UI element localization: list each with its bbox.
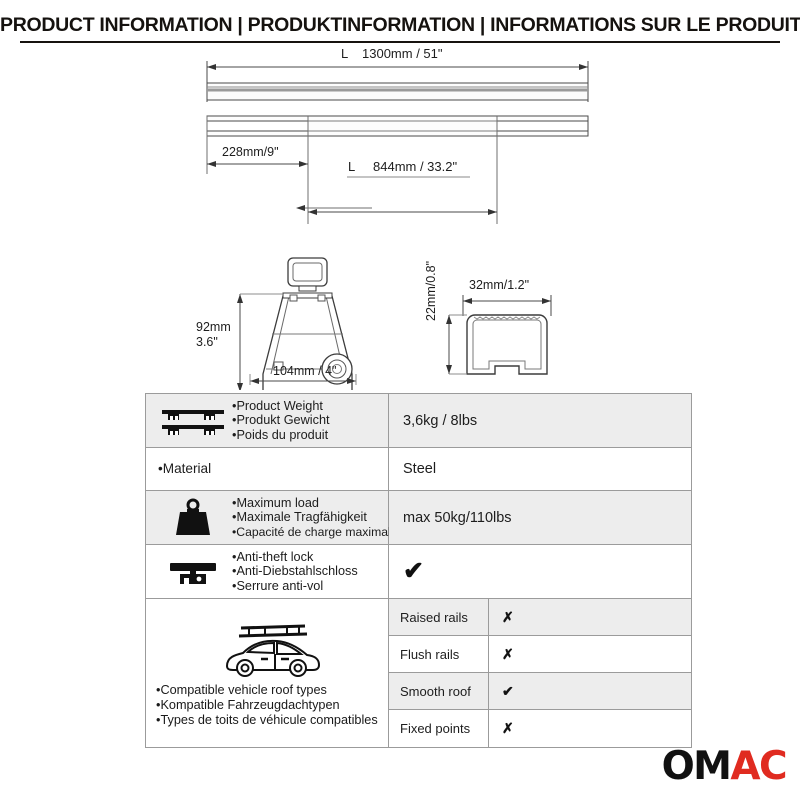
roof-option-label: Flush rails [389,636,489,672]
roof-bars-icon [154,404,232,438]
label-en: •Maximum load [232,496,398,511]
table-row-anti-theft-lock: •Anti-theft lock •Anti-Diebstahlschloss … [146,545,691,599]
roof-option-mark: ✗ [489,636,691,672]
profile-height-value: 22mm/0.8" [424,261,438,321]
table-row-product-weight: •Product Weight •Produkt Gewicht •Poids … [146,394,691,448]
foot-width-value: 104mm / 4" [273,364,337,378]
label-fr: •Serrure anti-vol [232,579,358,594]
roof-types-labels: •Compatible vehicle roof types •Kompatib… [156,683,378,728]
roof-options-subtable: Raised rails ✗ Flush rails ✗ Smooth roof… [389,599,691,747]
roof-option-row: Raised rails ✗ [389,599,691,636]
roof-option-label: Raised rails [389,599,489,635]
page-title: PRODUCT INFORMATION | PRODUKTINFORMATION… [0,14,800,37]
material-value: Steel [389,448,691,490]
anti-theft-label-cell: •Anti-theft lock •Anti-Diebstahlschloss … [146,545,389,598]
product-weight-label-cell: •Product Weight •Produkt Gewicht •Poids … [146,394,389,447]
product-information-sheet: PRODUCT INFORMATION | PRODUKTINFORMATION… [0,0,800,800]
specification-table: •Product Weight •Produkt Gewicht •Poids … [145,393,692,748]
roof-option-label: Fixed points [389,710,489,747]
overall-length-symbol: L [341,46,348,61]
label-en: •Material [158,462,211,477]
profile-width-value: 32mm/1.2" [469,278,529,292]
omac-logo: OMAC [662,747,786,786]
label-de: •Produkt Gewicht [232,413,330,428]
material-label-cell: •Material [146,448,389,490]
roof-option-row: Fixed points ✗ [389,710,691,747]
label-de: •Maximale Tragfähigkeit [232,510,398,525]
overall-length-value: 1300mm / 51" [362,46,443,61]
span-value: 844mm / 33.2" [373,159,457,174]
table-row-material: •Material Steel [146,448,691,491]
roof-option-row: Smooth roof ✔ [389,673,691,710]
maximum-load-value: max 50kg/110lbs [389,491,691,544]
label-en: •Compatible vehicle roof types [156,683,378,698]
label-fr: •Types de toits de véhicule compatibles [156,713,378,728]
roof-option-mark: ✗ [489,599,691,635]
roof-option-row: Flush rails ✗ [389,636,691,673]
label-de: •Kompatible Fahrzeugdachtypen [156,698,378,713]
weight-icon [154,498,232,538]
roof-option-label: Smooth roof [389,673,489,709]
lock-icon [154,555,232,589]
maximum-load-labels: •Maximum load •Maximale Tragfähigkeit •C… [232,496,398,540]
anti-theft-value: ✔ [389,545,691,598]
label-fr: •Capacité de charge maximale [232,525,398,540]
logo-text-dark: OM [662,744,731,789]
anti-theft-labels: •Anti-theft lock •Anti-Diebstahlschloss … [232,550,358,594]
technical-drawing: L 1300mm / 51" 228mm/9" L 844mm / 33.2" … [0,44,800,390]
roof-option-mark: ✗ [489,710,691,747]
technical-drawing-svg [0,44,800,390]
maximum-load-label-cell: •Maximum load •Maximale Tragfähigkeit •C… [146,491,389,544]
end-offset-value: 228mm/9" [222,145,279,159]
title-divider [20,41,780,43]
table-row-roof-types: •Compatible vehicle roof types •Kompatib… [146,599,691,747]
roof-option-mark: ✔ [489,673,691,709]
label-en: •Anti-theft lock [232,550,358,565]
roof-types-label-cell: •Compatible vehicle roof types •Kompatib… [146,599,389,747]
label-en: •Product Weight [232,399,330,414]
car-with-rack-icon [156,619,382,681]
label-de: •Anti-Diebstahlschloss [232,564,358,579]
logo-text-accent: AC [730,744,786,789]
product-weight-labels: •Product Weight •Produkt Gewicht •Poids … [232,399,330,443]
foot-height-value-mm: 92mm [196,320,231,334]
table-row-maximum-load: •Maximum load •Maximale Tragfähigkeit •C… [146,491,691,545]
product-weight-value: 3,6kg / 8lbs [389,394,691,447]
span-symbol: L [348,159,355,174]
checkmark-icon: ✔ [403,559,424,584]
foot-height-value-in: 3.6" [196,335,218,349]
material-labels: •Material [158,462,211,477]
label-fr: •Poids du produit [232,428,330,443]
